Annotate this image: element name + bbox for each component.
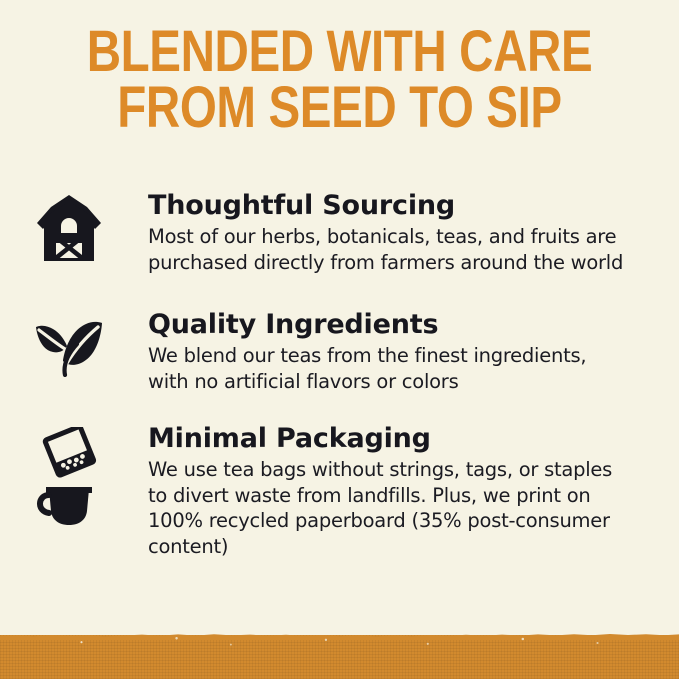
leaf-icon: [30, 309, 108, 401]
feature-description: We use tea bags without strings, tags, o…: [148, 457, 628, 559]
headline-line-1: BLENDED WITH CARE: [61, 24, 618, 80]
feature-title: Thoughtful Sourcing: [148, 190, 650, 221]
feature-body: Quality Ingredients We blend our teas fr…: [108, 309, 650, 394]
feature-title: Minimal Packaging: [148, 423, 650, 454]
product-info-poster: BLENDED WITH CARE FROM SEED TO SIP: [0, 0, 679, 679]
torn-edge: [0, 630, 679, 640]
list-item: Thoughtful Sourcing Most of our herbs, b…: [30, 190, 650, 282]
feature-description: Most of our herbs, botanicals, teas, and…: [148, 224, 628, 275]
feature-body: Minimal Packaging We use tea bags withou…: [108, 423, 650, 559]
feature-list: Thoughtful Sourcing Most of our herbs, b…: [30, 190, 650, 559]
list-item: Minimal Packaging We use tea bags withou…: [30, 423, 650, 559]
headline-line-2: FROM SEED TO SIP: [61, 80, 618, 136]
bottom-orange-band: [0, 635, 679, 679]
teabag-mug-icon: [30, 423, 108, 515]
barn-icon: [30, 190, 108, 282]
page-title: BLENDED WITH CARE FROM SEED TO SIP: [61, 24, 618, 136]
feature-description: We blend our teas from the finest ingred…: [148, 343, 628, 394]
feature-title: Quality Ingredients: [148, 309, 650, 340]
list-item: Quality Ingredients We blend our teas fr…: [30, 309, 650, 401]
feature-body: Thoughtful Sourcing Most of our herbs, b…: [108, 190, 650, 275]
